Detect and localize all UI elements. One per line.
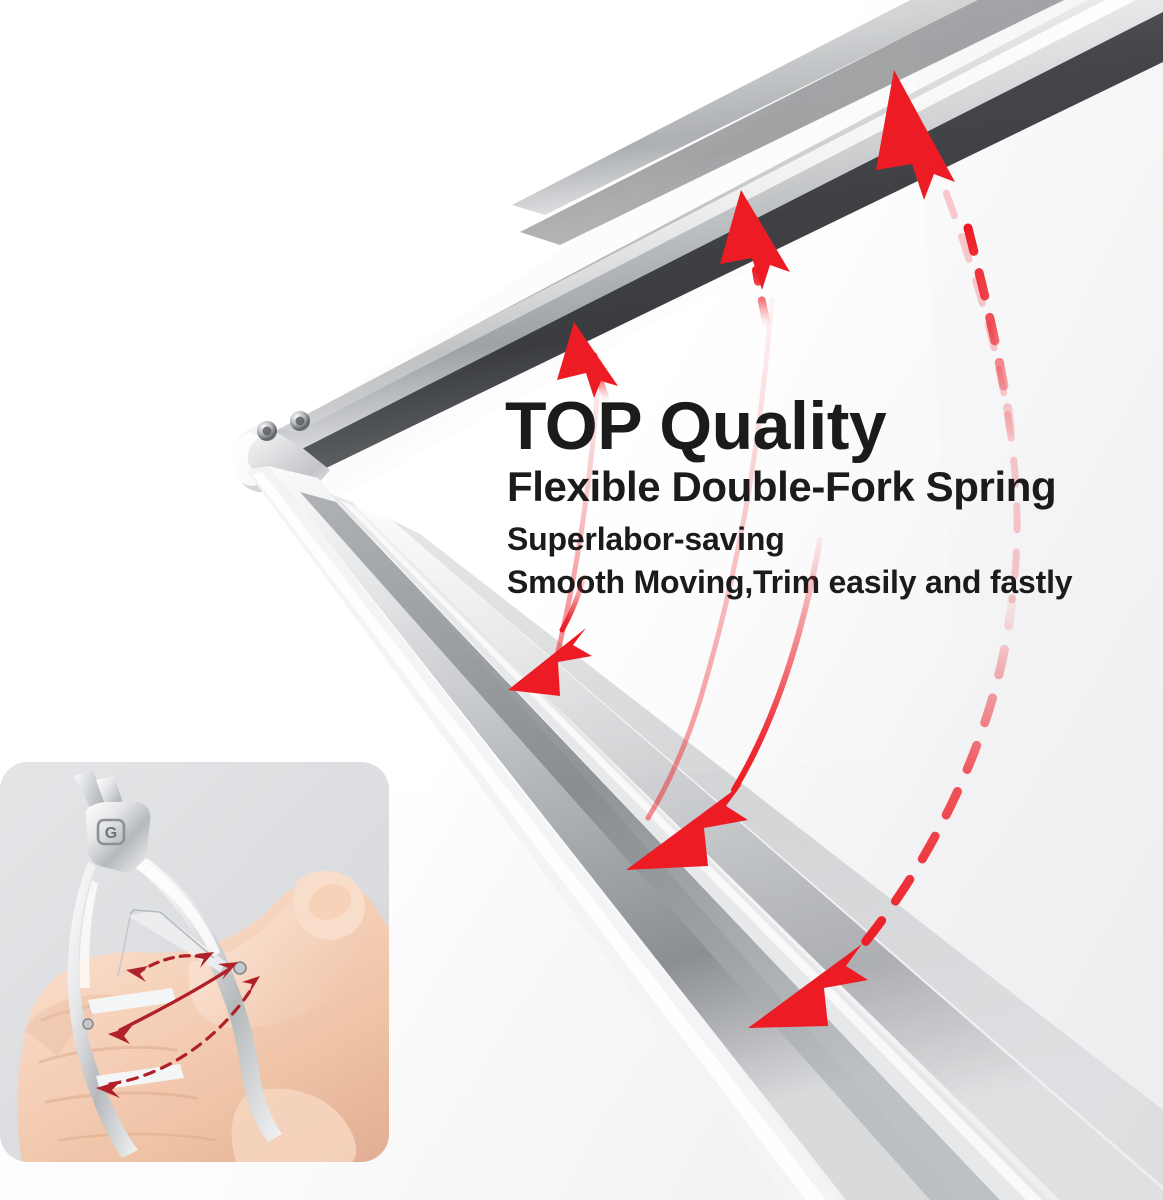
brand-mark: G bbox=[105, 825, 117, 842]
arrow-down-middle bbox=[626, 540, 820, 870]
arrow-down-inner bbox=[508, 576, 592, 696]
arrow-up-inner bbox=[557, 322, 618, 398]
arrow-up-middle bbox=[720, 190, 790, 322]
arrow-up-outer bbox=[876, 70, 1012, 440]
hand-holding-nipper-photo: G bbox=[0, 762, 389, 1162]
handle-screw bbox=[83, 1019, 93, 1029]
product-feature-image: TOP Quality Flexible Double-Fork Spring … bbox=[0, 0, 1163, 1200]
hand-demo-inset[interactable]: G bbox=[0, 762, 389, 1162]
